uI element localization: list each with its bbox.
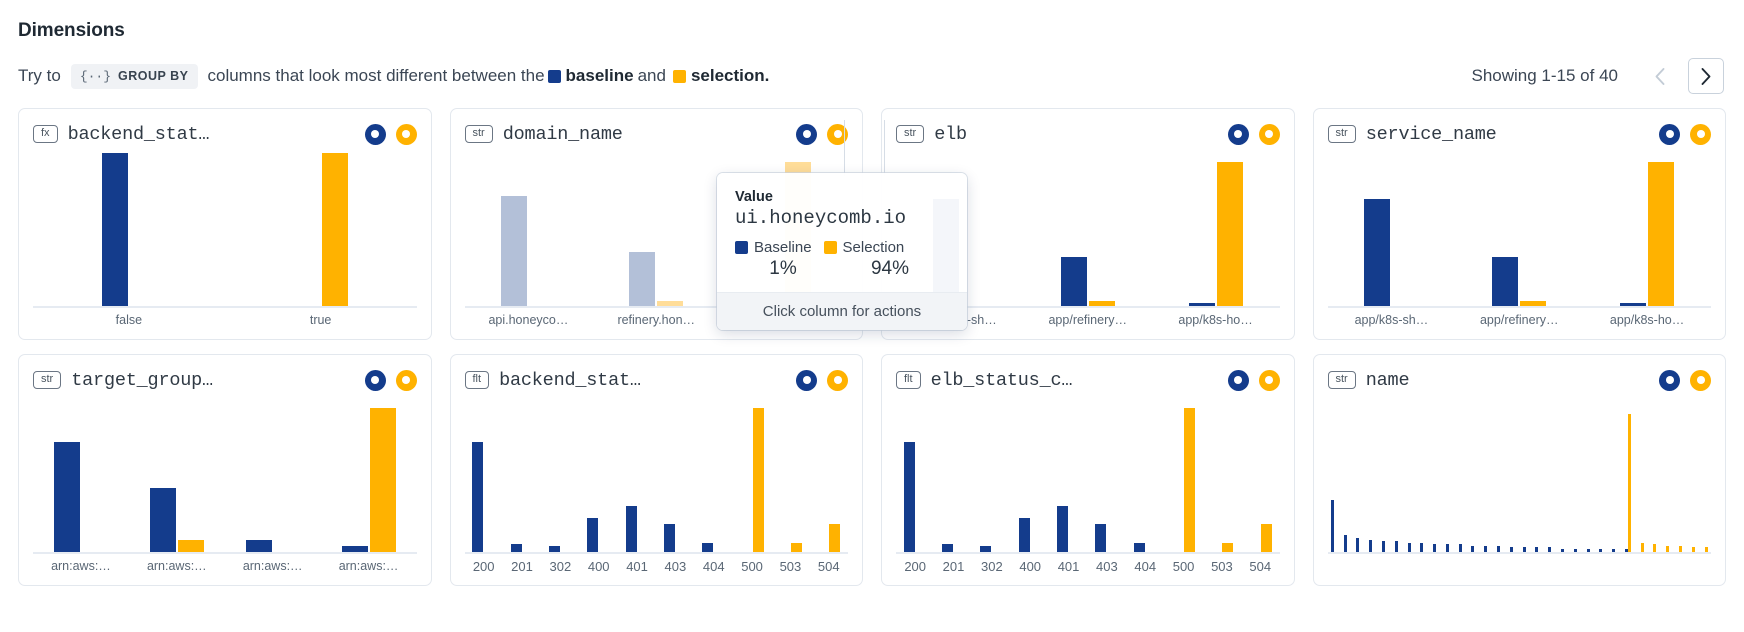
bar-group[interactable] bbox=[1468, 399, 1481, 552]
bar-groups bbox=[33, 153, 417, 306]
axis-tick-label bbox=[1558, 559, 1571, 577]
baseline-bar[interactable] bbox=[1497, 546, 1500, 552]
bar-chart bbox=[1328, 399, 1712, 554]
axis-tick-label: app/k8s-sh… bbox=[1328, 313, 1456, 331]
dimensions-panel: Dimensions Try to {··} GROUP BY columns … bbox=[0, 0, 1744, 632]
baseline-bar[interactable] bbox=[1420, 543, 1423, 552]
selection-bar[interactable] bbox=[1641, 543, 1644, 552]
toggle-inner-dot bbox=[803, 376, 811, 384]
selection-bar[interactable] bbox=[1705, 547, 1708, 552]
baseline-bar[interactable] bbox=[1061, 257, 1087, 306]
column-name: backend_stat… bbox=[68, 124, 210, 145]
hint-middle-text: columns that look most different between… bbox=[208, 66, 545, 86]
axis-tick-label: app/refinery… bbox=[1455, 313, 1583, 331]
card-header: strelb bbox=[896, 121, 1280, 147]
card-header: fltelb_status_c… bbox=[896, 367, 1280, 393]
series-toggles bbox=[365, 124, 417, 145]
baseline-bar[interactable] bbox=[1574, 549, 1577, 552]
bar-group[interactable] bbox=[33, 153, 225, 306]
axis-tick-label: 302 bbox=[973, 559, 1011, 577]
selection-bar[interactable] bbox=[178, 540, 204, 552]
baseline-bar[interactable] bbox=[1331, 500, 1334, 552]
axis-tick-label: 200 bbox=[465, 559, 503, 577]
selection-toggle-icon[interactable] bbox=[1690, 370, 1711, 391]
bar-groups bbox=[1328, 399, 1712, 552]
bar-group[interactable] bbox=[973, 399, 1011, 552]
selection-legend-swatch bbox=[673, 70, 686, 83]
axis-tick-label: 400 bbox=[580, 559, 618, 577]
bar-group[interactable] bbox=[733, 399, 771, 552]
baseline-legend-label: baseline bbox=[566, 66, 634, 86]
bar-group[interactable] bbox=[1241, 399, 1279, 552]
bar-group[interactable] bbox=[1583, 399, 1596, 552]
axis-tick-label bbox=[1660, 559, 1673, 577]
baseline-bar[interactable] bbox=[1408, 543, 1411, 552]
axis-tick-label bbox=[1455, 559, 1468, 577]
bar-group[interactable] bbox=[1366, 399, 1379, 552]
bar-group[interactable] bbox=[1152, 153, 1280, 306]
bar-group[interactable] bbox=[1164, 399, 1202, 552]
selection-bar[interactable] bbox=[1217, 162, 1243, 306]
bar-group[interactable] bbox=[1443, 399, 1456, 552]
bar-group[interactable] bbox=[225, 153, 417, 306]
bar-chart bbox=[33, 153, 417, 308]
baseline-bar[interactable] bbox=[587, 518, 598, 552]
bar-group[interactable] bbox=[934, 399, 972, 552]
dimension-card[interactable]: fltbackend_stat…200201302400401403404500… bbox=[450, 354, 864, 586]
bar-group[interactable] bbox=[1391, 399, 1404, 552]
axis-tick-label bbox=[1685, 559, 1698, 577]
axis-tick-label: 401 bbox=[1049, 559, 1087, 577]
toggle-inner-dot bbox=[1234, 130, 1242, 138]
baseline-bar[interactable] bbox=[1492, 257, 1518, 306]
baseline-bar[interactable] bbox=[102, 153, 128, 306]
axis-tick-label bbox=[1621, 559, 1634, 577]
baseline-bar[interactable] bbox=[1057, 506, 1068, 552]
column-name: service_name bbox=[1366, 124, 1497, 145]
bar-group[interactable] bbox=[1545, 399, 1558, 552]
bar-group[interactable] bbox=[33, 399, 129, 552]
chevron-right-icon bbox=[1700, 67, 1712, 86]
tooltip-baseline-pct: 1% bbox=[735, 258, 831, 280]
column-name: elb_status_c… bbox=[931, 370, 1073, 391]
baseline-bar[interactable] bbox=[1382, 541, 1385, 552]
axis-tick-label: app/k8s-ho… bbox=[1583, 313, 1711, 331]
baseline-bar[interactable] bbox=[1364, 199, 1390, 306]
bar-group[interactable] bbox=[321, 399, 417, 552]
baseline-toggle-icon[interactable] bbox=[1228, 370, 1249, 391]
axis-tick-label: false bbox=[33, 313, 225, 331]
selection-bar[interactable] bbox=[1648, 162, 1674, 306]
column-name: target_group… bbox=[71, 370, 213, 391]
baseline-bar[interactable] bbox=[1599, 549, 1602, 552]
bar-group[interactable] bbox=[1203, 399, 1241, 552]
bar-group[interactable] bbox=[1379, 399, 1392, 552]
card-header: strname bbox=[1328, 367, 1712, 393]
baseline-bar[interactable] bbox=[942, 544, 953, 552]
bar-group[interactable] bbox=[1328, 153, 1456, 306]
bar-group[interactable] bbox=[1481, 399, 1494, 552]
selection-bar[interactable] bbox=[1222, 543, 1233, 552]
axis-tick-label: 503 bbox=[771, 559, 809, 577]
bar-group[interactable] bbox=[503, 399, 541, 552]
axis-tick-label: 403 bbox=[656, 559, 694, 577]
tooltip-footer[interactable]: Click column for actions bbox=[717, 292, 967, 330]
bar-group[interactable] bbox=[1126, 399, 1164, 552]
axis-tick-label: 403 bbox=[1088, 559, 1126, 577]
toggle-inner-dot bbox=[1265, 130, 1273, 138]
series-toggles bbox=[1228, 370, 1280, 391]
x-axis: arn:aws:…arn:aws:…arn:aws:…arn:aws:… bbox=[33, 559, 417, 577]
selection-toggle-icon[interactable] bbox=[396, 124, 417, 145]
bar-group[interactable] bbox=[1340, 399, 1353, 552]
subheader: Try to {··} GROUP BY columns that look m… bbox=[18, 58, 1726, 94]
baseline-bar[interactable] bbox=[1134, 543, 1145, 552]
bar-group[interactable] bbox=[1609, 399, 1622, 552]
axis-tick-label bbox=[1647, 559, 1660, 577]
baseline-bar[interactable] bbox=[1523, 547, 1526, 552]
bar-group[interactable] bbox=[1647, 399, 1660, 552]
bar-group[interactable] bbox=[1698, 399, 1711, 552]
axis-tick-label: 201 bbox=[503, 559, 541, 577]
sentence-period: . bbox=[765, 66, 770, 86]
bar-group[interactable] bbox=[618, 399, 656, 552]
baseline-bar[interactable] bbox=[1356, 538, 1359, 552]
axis-tick-label: app/k8s-ho… bbox=[1152, 313, 1280, 331]
baseline-bar[interactable] bbox=[1587, 549, 1590, 552]
axis-tick-label: 400 bbox=[1011, 559, 1049, 577]
axis-tick-label: 404 bbox=[695, 559, 733, 577]
bar-group[interactable] bbox=[1596, 399, 1609, 552]
toggle-inner-dot bbox=[1697, 376, 1705, 384]
tooltip-baseline-label: Baseline bbox=[754, 239, 812, 256]
selection-bar[interactable] bbox=[1666, 546, 1669, 552]
bar-group[interactable] bbox=[1455, 399, 1468, 552]
bar-groups bbox=[896, 399, 1280, 552]
column-type-badge: str bbox=[896, 125, 924, 144]
bar-groups bbox=[1328, 153, 1712, 306]
bar-chart bbox=[1328, 153, 1712, 308]
bar-group[interactable] bbox=[465, 399, 503, 552]
bar-group[interactable] bbox=[1673, 399, 1686, 552]
baseline-bar[interactable] bbox=[1395, 541, 1398, 552]
bar-chart bbox=[33, 399, 417, 554]
baseline-bar[interactable] bbox=[664, 524, 675, 552]
baseline-bar[interactable] bbox=[702, 543, 713, 552]
axis-tick-label: true bbox=[225, 313, 417, 331]
toggle-inner-dot bbox=[371, 130, 379, 138]
selection-toggle-icon[interactable] bbox=[1259, 370, 1280, 391]
column-type-badge: flt bbox=[465, 371, 490, 390]
baseline-toggle-icon[interactable] bbox=[365, 124, 386, 145]
toggle-inner-dot bbox=[402, 130, 410, 138]
axis-tick-label: 503 bbox=[1203, 559, 1241, 577]
axis-tick-label bbox=[1328, 559, 1341, 577]
baseline-bar[interactable] bbox=[626, 506, 637, 552]
axis-tick-label bbox=[1430, 559, 1443, 577]
baseline-bar[interactable] bbox=[1535, 547, 1538, 552]
bar-group[interactable] bbox=[1011, 399, 1049, 552]
bar-group[interactable] bbox=[465, 153, 593, 306]
bar-group[interactable] bbox=[129, 399, 225, 552]
x-axis: 200201302400401403404500503504 bbox=[465, 559, 849, 577]
card-header: fltbackend_stat… bbox=[465, 367, 849, 393]
toggle-inner-dot bbox=[371, 376, 379, 384]
baseline-toggle-icon[interactable] bbox=[1228, 124, 1249, 145]
baseline-bar[interactable] bbox=[472, 442, 483, 552]
next-page-button[interactable] bbox=[1688, 58, 1724, 94]
baseline-bar[interactable] bbox=[1620, 303, 1646, 306]
card-header: strservice_name bbox=[1328, 121, 1712, 147]
bar-group[interactable] bbox=[225, 399, 321, 552]
bar-group[interactable] bbox=[1430, 399, 1443, 552]
baseline-bar[interactable] bbox=[342, 546, 368, 552]
bar-group[interactable] bbox=[771, 399, 809, 552]
tooltip-value-label: Value bbox=[735, 189, 949, 205]
selection-toggle-icon[interactable] bbox=[1690, 124, 1711, 145]
selection-bar[interactable] bbox=[829, 524, 840, 552]
toggle-inner-dot bbox=[1265, 376, 1273, 384]
tooltip-selection-label: Selection bbox=[843, 239, 905, 256]
series-toggles bbox=[1228, 124, 1280, 145]
x-axis: app/k8s-sh…app/refinery…app/k8s-ho… bbox=[1328, 313, 1712, 331]
dimension-card[interactable]: strservice_nameapp/k8s-sh…app/refinery…a… bbox=[1313, 108, 1727, 340]
baseline-bar[interactable] bbox=[511, 544, 522, 552]
bar-group[interactable] bbox=[810, 399, 848, 552]
bar-group[interactable] bbox=[695, 399, 733, 552]
column-name: elb bbox=[934, 124, 967, 145]
series-toggles bbox=[1659, 124, 1711, 145]
bar-group[interactable] bbox=[1417, 399, 1430, 552]
baseline-bar[interactable] bbox=[1433, 544, 1436, 552]
selection-bar[interactable] bbox=[1520, 301, 1546, 306]
axis-tick-label bbox=[1570, 559, 1583, 577]
tooltip-selection-pct: 94% bbox=[831, 258, 949, 280]
chevron-left-icon bbox=[1654, 67, 1666, 86]
toggle-inner-dot bbox=[834, 130, 842, 138]
axis-tick-label: app/refinery… bbox=[1024, 313, 1152, 331]
baseline-bar[interactable] bbox=[1189, 303, 1215, 306]
column-type-badge: str bbox=[33, 371, 61, 390]
axis-tick-label: 404 bbox=[1126, 559, 1164, 577]
baseline-legend-swatch bbox=[548, 70, 561, 83]
selection-toggle-icon[interactable] bbox=[396, 370, 417, 391]
axis-tick-label bbox=[1596, 559, 1609, 577]
selection-bar[interactable] bbox=[322, 153, 348, 306]
tooltip-legend: Baseline Selection bbox=[735, 239, 949, 256]
tooltip-stem-left bbox=[844, 120, 845, 176]
x-axis: falsetrue bbox=[33, 313, 417, 331]
axis-tick-label bbox=[1532, 559, 1545, 577]
axis-tick-label: 500 bbox=[1164, 559, 1202, 577]
axis-tick-label bbox=[1379, 559, 1392, 577]
x-axis bbox=[1328, 559, 1712, 577]
axis-tick-label bbox=[1340, 559, 1353, 577]
selection-bar[interactable] bbox=[1184, 408, 1195, 552]
tooltip-baseline-swatch bbox=[735, 241, 748, 254]
card-header: strdomain_name bbox=[465, 121, 849, 147]
bar-group[interactable] bbox=[1024, 153, 1152, 306]
baseline-bar[interactable] bbox=[980, 546, 991, 552]
selection-bar[interactable] bbox=[1653, 544, 1656, 552]
column-type-badge: str bbox=[465, 125, 493, 144]
bar-groups bbox=[465, 399, 849, 552]
baseline-bar[interactable] bbox=[1471, 546, 1474, 552]
baseline-toggle-icon[interactable] bbox=[796, 370, 817, 391]
axis-tick-label bbox=[1468, 559, 1481, 577]
selection-toggle-icon[interactable] bbox=[1259, 124, 1280, 145]
bar-groups bbox=[33, 399, 417, 552]
dimension-card[interactable]: strtarget_group…arn:aws:…arn:aws:…arn:aw… bbox=[18, 354, 432, 586]
card-header: strtarget_group… bbox=[33, 367, 417, 393]
baseline-bar[interactable] bbox=[1561, 549, 1564, 552]
bar-group[interactable] bbox=[592, 153, 720, 306]
axis-tick-label: 201 bbox=[934, 559, 972, 577]
column-name: backend_stat… bbox=[499, 370, 641, 391]
baseline-toggle-icon[interactable] bbox=[1659, 124, 1680, 145]
series-toggles bbox=[796, 370, 848, 391]
column-type-badge: fx bbox=[33, 125, 58, 144]
axis-tick-label: arn:aws:… bbox=[321, 559, 417, 577]
axis-tick-label: arn:aws:… bbox=[33, 559, 129, 577]
toggle-inner-dot bbox=[1234, 376, 1242, 384]
x-axis: 200201302400401403404500503504 bbox=[896, 559, 1280, 577]
axis-tick-label: arn:aws:… bbox=[225, 559, 321, 577]
axis-tick-label: refinery.hon… bbox=[592, 313, 720, 331]
group-by-chip[interactable]: {··} GROUP BY bbox=[71, 64, 198, 89]
bar-group[interactable] bbox=[656, 399, 694, 552]
selection-bar[interactable] bbox=[1089, 301, 1115, 306]
baseline-toggle-icon[interactable] bbox=[796, 124, 817, 145]
bar-group[interactable] bbox=[1328, 399, 1341, 552]
selection-legend-label: selection bbox=[691, 66, 765, 86]
bar-group[interactable] bbox=[1660, 399, 1673, 552]
baseline-bar[interactable] bbox=[246, 540, 272, 552]
bar-group[interactable] bbox=[1532, 399, 1545, 552]
selection-bar[interactable] bbox=[1692, 547, 1695, 552]
baseline-bar[interactable] bbox=[1548, 547, 1551, 552]
axis-tick-label: 504 bbox=[1241, 559, 1279, 577]
bar-group[interactable] bbox=[1088, 399, 1126, 552]
axis-tick-label: 302 bbox=[541, 559, 579, 577]
axis-tick-label bbox=[1481, 559, 1494, 577]
dimension-card[interactable]: fltelb_status_c…200201302400401403404500… bbox=[881, 354, 1295, 586]
axis-tick-label bbox=[1353, 559, 1366, 577]
series-toggles bbox=[796, 124, 848, 145]
baseline-bar[interactable] bbox=[1484, 546, 1487, 552]
column-name: domain_name bbox=[503, 124, 623, 145]
toggle-inner-dot bbox=[1666, 376, 1674, 384]
selection-bar[interactable] bbox=[1679, 546, 1682, 552]
bar-group[interactable] bbox=[1685, 399, 1698, 552]
baseline-bar[interactable] bbox=[54, 442, 80, 552]
baseline-bar[interactable] bbox=[1369, 540, 1372, 552]
bar-group[interactable] bbox=[1634, 399, 1647, 552]
axis-tick-label bbox=[1443, 559, 1456, 577]
bar-group[interactable] bbox=[896, 399, 934, 552]
axis-tick-label bbox=[1519, 559, 1532, 577]
dimension-card[interactable]: strname bbox=[1313, 354, 1727, 586]
series-toggles bbox=[365, 370, 417, 391]
selection-bar[interactable] bbox=[791, 543, 802, 552]
baseline-bar[interactable] bbox=[1510, 547, 1513, 552]
prev-page-button[interactable] bbox=[1642, 58, 1678, 94]
selection-bar[interactable] bbox=[657, 301, 683, 306]
bar-group[interactable] bbox=[1558, 399, 1571, 552]
axis-tick-label: 500 bbox=[733, 559, 771, 577]
column-name: name bbox=[1366, 370, 1410, 391]
baseline-bar[interactable] bbox=[549, 546, 560, 552]
selection-bar[interactable] bbox=[370, 408, 396, 552]
bar-group[interactable] bbox=[1353, 399, 1366, 552]
toggle-inner-dot bbox=[1666, 130, 1674, 138]
baseline-bar[interactable] bbox=[1612, 549, 1615, 552]
axis-tick-label bbox=[1609, 559, 1622, 577]
baseline-toggle-icon[interactable] bbox=[1659, 370, 1680, 391]
bar-group[interactable] bbox=[1583, 153, 1711, 306]
bar-group[interactable] bbox=[1455, 153, 1583, 306]
baseline-bar[interactable] bbox=[1459, 544, 1462, 552]
baseline-bar[interactable] bbox=[1095, 524, 1106, 552]
column-type-badge: str bbox=[1328, 371, 1356, 390]
baseline-bar[interactable] bbox=[1344, 535, 1347, 552]
axis-tick-label bbox=[1506, 559, 1519, 577]
dimension-card[interactable]: fxbackend_stat…falsetrue bbox=[18, 108, 432, 340]
and-text: and bbox=[638, 66, 666, 86]
axis-tick-label bbox=[1634, 559, 1647, 577]
selection-toggle-icon[interactable] bbox=[827, 370, 848, 391]
column-type-badge: flt bbox=[896, 371, 921, 390]
pagination: Showing 1-15 of 40 bbox=[1472, 58, 1725, 94]
bar-group[interactable] bbox=[1570, 399, 1583, 552]
toggle-inner-dot bbox=[834, 376, 842, 384]
axis-tick-label bbox=[1391, 559, 1404, 577]
toggle-inner-dot bbox=[1697, 130, 1705, 138]
baseline-bar[interactable] bbox=[1019, 518, 1030, 552]
baseline-bar[interactable] bbox=[629, 252, 655, 306]
axis-tick-label bbox=[1673, 559, 1686, 577]
bar-group[interactable] bbox=[1049, 399, 1087, 552]
baseline-toggle-icon[interactable] bbox=[365, 370, 386, 391]
selection-bar[interactable] bbox=[1261, 524, 1272, 552]
bar-chart bbox=[896, 399, 1280, 554]
axis-tick-label bbox=[1417, 559, 1430, 577]
axis-tick-label bbox=[1698, 559, 1711, 577]
tooltip-stem-right bbox=[884, 120, 885, 176]
axis-tick-label bbox=[1494, 559, 1507, 577]
bar-group[interactable] bbox=[1506, 399, 1519, 552]
group-by-label: GROUP BY bbox=[118, 69, 188, 83]
baseline-bar[interactable] bbox=[1446, 544, 1449, 552]
bar-group[interactable] bbox=[1404, 399, 1417, 552]
baseline-bar[interactable] bbox=[904, 442, 915, 552]
column-type-badge: str bbox=[1328, 125, 1356, 144]
card-header: fxbackend_stat… bbox=[33, 121, 417, 147]
axis-tick-label: 200 bbox=[896, 559, 934, 577]
selection-bar[interactable] bbox=[753, 408, 764, 552]
baseline-bar[interactable] bbox=[501, 196, 527, 306]
selection-bar[interactable] bbox=[1628, 414, 1631, 552]
bar-group[interactable] bbox=[1519, 399, 1532, 552]
baseline-bar[interactable] bbox=[150, 488, 176, 552]
bar-group[interactable] bbox=[541, 399, 579, 552]
axis-tick-label bbox=[1545, 559, 1558, 577]
bar-group[interactable] bbox=[1494, 399, 1507, 552]
bar-group[interactable] bbox=[1621, 399, 1634, 552]
bar-group[interactable] bbox=[580, 399, 618, 552]
axis-tick-label bbox=[1404, 559, 1417, 577]
tooltip-selection-swatch bbox=[824, 241, 837, 254]
